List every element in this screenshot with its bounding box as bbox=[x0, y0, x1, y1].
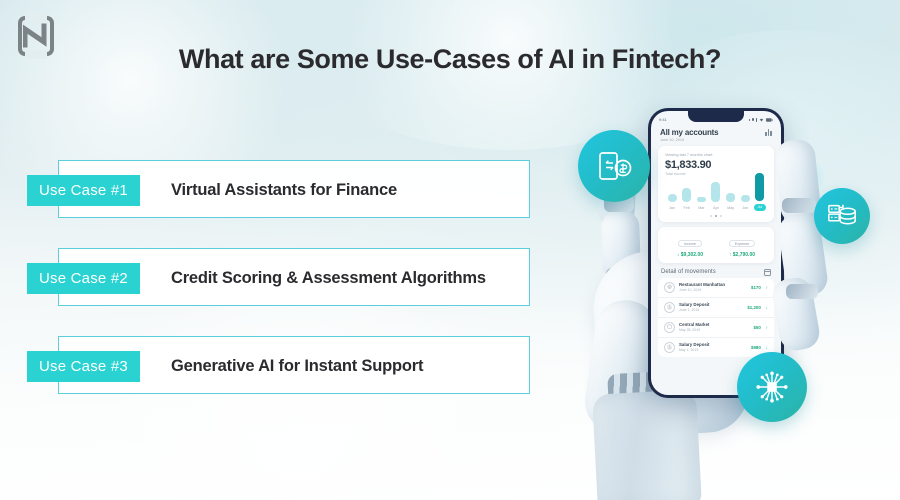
use-case-card-1[interactable]: Use Case #1 Virtual Assistants for Finan… bbox=[58, 160, 530, 218]
wifi-icon bbox=[759, 118, 764, 122]
income-arrow-icon: ↓ bbox=[677, 252, 680, 258]
bar-label: Jun bbox=[742, 205, 748, 211]
signal-icon bbox=[756, 118, 757, 122]
expense-value: ↑ $2,790.00 bbox=[729, 252, 755, 258]
movement-date: May 1, 2019 bbox=[679, 348, 747, 352]
movement-row[interactable]: ⓈSalary DepositMay 1, 2019$980↓ bbox=[658, 338, 774, 357]
movement-direction-icon: ↓ bbox=[766, 305, 768, 310]
bar bbox=[668, 194, 677, 202]
movement-direction-icon: ↑ bbox=[766, 285, 768, 290]
movement-name: Salary Deposit bbox=[679, 342, 747, 347]
carousel-pager[interactable] bbox=[665, 215, 767, 217]
ai-chip-network-icon bbox=[737, 352, 807, 422]
use-case-label-1: Virtual Assistants for Finance bbox=[171, 161, 397, 219]
pager-dot[interactable] bbox=[715, 215, 717, 217]
movement-amount: $50 bbox=[753, 325, 760, 330]
movement-text: Salary DepositMay 1, 2019 bbox=[679, 342, 747, 352]
use-case-card-2[interactable]: Use Case #2 Credit Scoring & Assessment … bbox=[58, 248, 530, 306]
use-case-label-2: Credit Scoring & Assessment Algorithms bbox=[171, 249, 486, 307]
app-header: All my accounts June 10, 2019 bbox=[651, 125, 781, 146]
movement-date: May 28, 2019 bbox=[679, 328, 749, 332]
movements-title: Detail of movements bbox=[661, 269, 716, 275]
bar-label: Apr bbox=[713, 205, 719, 211]
movement-name: Salary Deposit bbox=[679, 302, 743, 307]
bar-column[interactable]: Feb bbox=[681, 188, 693, 211]
total-sublabel: Total income bbox=[665, 172, 767, 176]
movement-direction-icon: ↑ bbox=[766, 325, 768, 330]
chart-card: Viewing last 7 months chart $1,833.90 To… bbox=[658, 146, 774, 222]
bar-chart-icon[interactable] bbox=[765, 128, 772, 136]
total-amount: $1,833.90 bbox=[665, 159, 767, 171]
bar-column[interactable]: Jan bbox=[666, 194, 678, 211]
pager-dot[interactable] bbox=[720, 215, 722, 217]
signal-icon bbox=[752, 118, 753, 121]
bar-column[interactable]: Jun bbox=[739, 195, 751, 211]
bar-column[interactable]: Jul bbox=[754, 173, 766, 211]
background-wash bbox=[40, 300, 560, 500]
expense-amount: $2,790.00 bbox=[733, 252, 755, 258]
income-amount: $9,302.00 bbox=[681, 252, 703, 258]
use-case-badge-3: Use Case #3 bbox=[27, 351, 140, 382]
salary-icon: Ⓢ bbox=[664, 342, 675, 353]
income-value: ↓ $9,302.00 bbox=[677, 252, 703, 258]
pager-dot[interactable] bbox=[710, 215, 712, 217]
status-icons bbox=[749, 118, 773, 122]
income-expense-card: Income ↓ $9,302.00 Expense ↑ $2,790.00 bbox=[658, 227, 774, 263]
movement-amount: $1,200 bbox=[747, 305, 760, 310]
bar-label: Mar bbox=[698, 205, 704, 211]
movement-date: June 10, 2019 bbox=[679, 288, 747, 292]
movement-name: Restaurant Manhattan bbox=[679, 282, 747, 287]
bar-column[interactable]: Apr bbox=[710, 182, 722, 211]
salary-icon: Ⓢ bbox=[664, 302, 675, 313]
movements-list: ◎Restaurant ManhattanJune 10, 2019$170↑Ⓢ… bbox=[658, 278, 774, 357]
status-time: 9:41 bbox=[659, 117, 667, 122]
bar-label: May bbox=[727, 205, 734, 211]
bar-column[interactable]: May bbox=[725, 193, 737, 211]
movement-amount: $170 bbox=[751, 285, 761, 290]
bar bbox=[755, 173, 764, 201]
movement-direction-icon: ↓ bbox=[766, 345, 768, 350]
logo-notch-top bbox=[25, 13, 47, 22]
movement-text: Salary DepositJune 1, 2019 bbox=[679, 302, 743, 312]
use-case-badge-1: Use Case #1 bbox=[27, 175, 140, 206]
expense-label: Expense bbox=[729, 240, 755, 247]
app-date: June 10, 2019 bbox=[660, 138, 718, 142]
bar-label: Jul bbox=[754, 204, 766, 211]
use-case-label-3: Generative AI for Instant Support bbox=[171, 337, 423, 395]
bar bbox=[682, 188, 691, 202]
income-block: Income ↓ $9,302.00 bbox=[677, 232, 703, 258]
movement-row[interactable]: ▢Central MarketMay 28, 2019$50↑ bbox=[658, 318, 774, 338]
movement-text: Central MarketMay 28, 2019 bbox=[679, 322, 749, 332]
movement-row[interactable]: ◎Restaurant ManhattanJune 10, 2019$170↑ bbox=[658, 278, 774, 298]
movement-name: Central Market bbox=[679, 322, 749, 327]
robot-wrist bbox=[592, 389, 702, 500]
bar bbox=[726, 193, 735, 202]
movement-row[interactable]: ⓈSalary DepositJune 1, 2019$1,200↓ bbox=[658, 298, 774, 318]
bar bbox=[741, 195, 750, 202]
use-case-card-3[interactable]: Use Case #3 Generative AI for Instant Su… bbox=[58, 336, 530, 394]
robot-knuckle bbox=[786, 284, 818, 299]
phone-notch bbox=[688, 111, 744, 122]
bar-column[interactable]: Mar bbox=[695, 197, 707, 211]
bar-chart[interactable]: JanFebMarAprMayJunJul bbox=[665, 181, 767, 211]
signal-icon bbox=[749, 119, 750, 121]
mobile-money-transfer-icon bbox=[578, 130, 650, 202]
income-label: Income bbox=[678, 240, 702, 247]
movement-text: Restaurant ManhattanJune 10, 2019 bbox=[679, 282, 747, 292]
movement-date: June 1, 2019 bbox=[679, 308, 743, 312]
use-case-badge-2: Use Case #2 bbox=[27, 263, 140, 294]
bar-label: Feb bbox=[684, 205, 690, 211]
app-title: All my accounts bbox=[660, 128, 718, 137]
bar bbox=[711, 182, 720, 202]
bar-label: Jan bbox=[669, 205, 675, 211]
slide-canvas: What are Some Use-Cases of AI in Fintech… bbox=[0, 0, 900, 500]
movement-amount: $980 bbox=[751, 345, 761, 350]
server-database-icon bbox=[814, 188, 870, 244]
expense-block: Expense ↑ $2,790.00 bbox=[729, 232, 755, 258]
battery-icon bbox=[766, 118, 773, 122]
calendar-icon[interactable] bbox=[764, 269, 771, 276]
chart-caption: Viewing last 7 months chart bbox=[665, 152, 767, 157]
market-icon: ▢ bbox=[664, 322, 675, 333]
restaurant-icon: ◎ bbox=[664, 282, 675, 293]
bar bbox=[697, 197, 706, 202]
expense-arrow-icon: ↑ bbox=[729, 252, 732, 258]
movements-header: Detail of movements bbox=[651, 269, 781, 278]
robot-knuckle bbox=[782, 198, 816, 213]
